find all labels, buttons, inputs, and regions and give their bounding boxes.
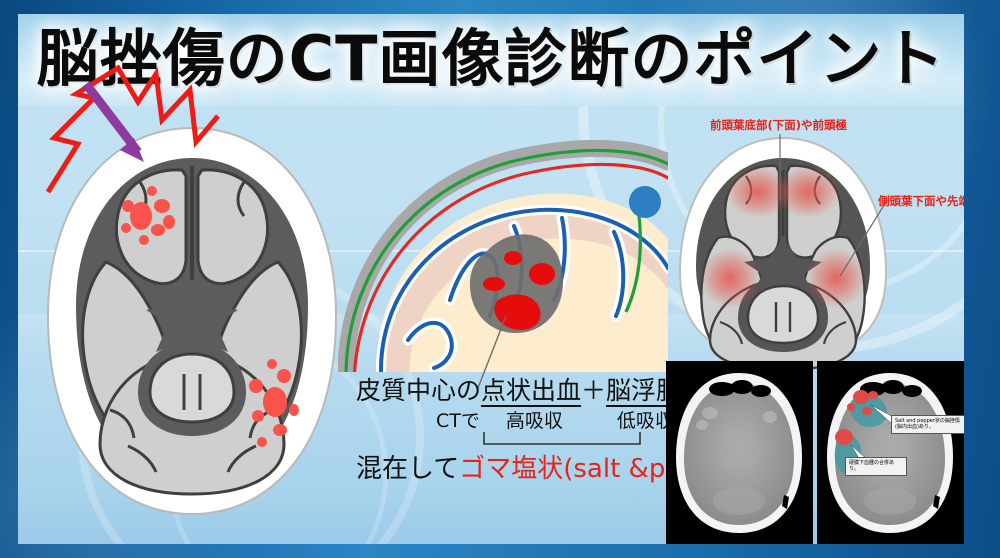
label-frontal-site: 前頭葉底部(下面)や前頭極: [710, 118, 847, 132]
slide-root: 脳挫傷のCT画像診断のポイント: [0, 0, 1000, 558]
brain-parenchyma: [76, 158, 308, 494]
caption-petechial: 点状出血: [481, 376, 581, 407]
caption-mixed: 混在して: [356, 454, 459, 484]
label-temporal-site: 側頭葉下面や先端部: [878, 194, 964, 208]
red-zigzag-icon: [48, 68, 218, 192]
caption-line-1: 皮質中心の点状出血＋脳浮腫: [356, 376, 686, 406]
caption-pre: 皮質中心の: [356, 376, 481, 405]
caption-line-3: 混在してゴマ塩状(salt &pepper): [356, 454, 696, 484]
slide-content-area: 脳挫傷のCT画像診断のポイント: [18, 14, 964, 544]
right-brain-figure: [668, 126, 898, 366]
ct-annotated-panel: Salt and pepper状の脳挫傷(脳内出血)あり。 硬膜下血腫の合併あり…: [817, 361, 964, 544]
ct-image-pair: Salt and pepper状の脳挫傷(脳内出血)あり。 硬膜下血腫の合併あり…: [666, 361, 964, 544]
caption-ct-label: CTで: [436, 410, 480, 432]
impact-indicator: [32, 64, 232, 204]
caption-line-2: CTで高吸収低吸収: [436, 410, 696, 432]
blue-dot-icon: [628, 185, 662, 219]
middle-contusion-figure: [338, 140, 668, 390]
ct-plain-panel: [666, 361, 813, 544]
callout-subdural-hematoma: 硬膜下血腫の合併あり。: [845, 457, 907, 476]
density-bracket: [482, 432, 642, 448]
callout-salt-and-pepper: Salt and pepper状の脳挫傷(脳内出血)あり。: [891, 415, 964, 434]
caption-high-density: 高吸収: [506, 410, 563, 432]
caption-plus: ＋: [581, 376, 606, 405]
